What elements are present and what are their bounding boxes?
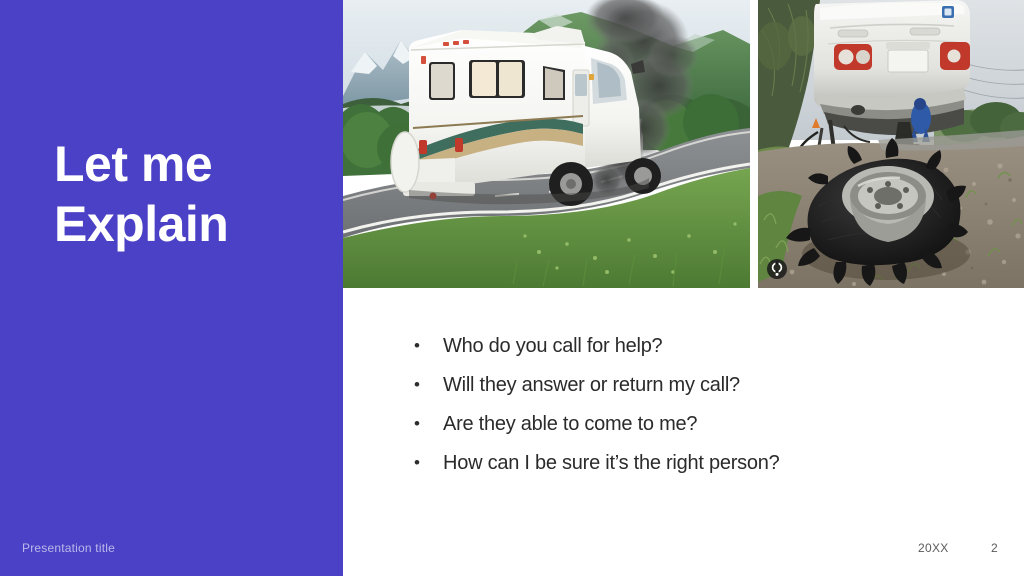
image-blown-tire-roadside bbox=[758, 0, 1024, 288]
list-item: • Are they able to come to me? bbox=[410, 404, 990, 443]
title-panel: Let me Explain Presentation title bbox=[0, 0, 343, 576]
bullet-marker-icon: • bbox=[410, 454, 443, 471]
image-rv-smoking-on-road bbox=[343, 0, 750, 288]
footer-page-number: 2 bbox=[991, 541, 998, 555]
bullet-list: • Who do you call for help? • Will they … bbox=[410, 326, 990, 482]
slide-canvas: Let me Explain Presentation title bbox=[0, 0, 1024, 576]
footer-year: 20XX bbox=[918, 541, 949, 555]
footer-presentation-title: Presentation title bbox=[22, 541, 115, 555]
bullet-text: Will they answer or return my call? bbox=[443, 372, 740, 398]
bullet-marker-icon: • bbox=[410, 337, 443, 354]
bullet-text: Who do you call for help? bbox=[443, 333, 662, 359]
list-item: • How can I be sure it’s the right perso… bbox=[410, 443, 990, 482]
bullet-text: How can I be sure it’s the right person? bbox=[443, 450, 779, 476]
page-title: Let me Explain bbox=[54, 134, 324, 254]
bullet-marker-icon: • bbox=[410, 415, 443, 432]
bullet-marker-icon: • bbox=[410, 376, 443, 393]
stock-photo-watermark-icon bbox=[766, 258, 788, 280]
list-item: • Will they answer or return my call? bbox=[410, 365, 990, 404]
list-item: • Who do you call for help? bbox=[410, 326, 990, 365]
blown-tire-illustration bbox=[758, 0, 1024, 288]
rv-smoking-illustration bbox=[343, 0, 750, 288]
bullet-text: Are they able to come to me? bbox=[443, 411, 697, 437]
